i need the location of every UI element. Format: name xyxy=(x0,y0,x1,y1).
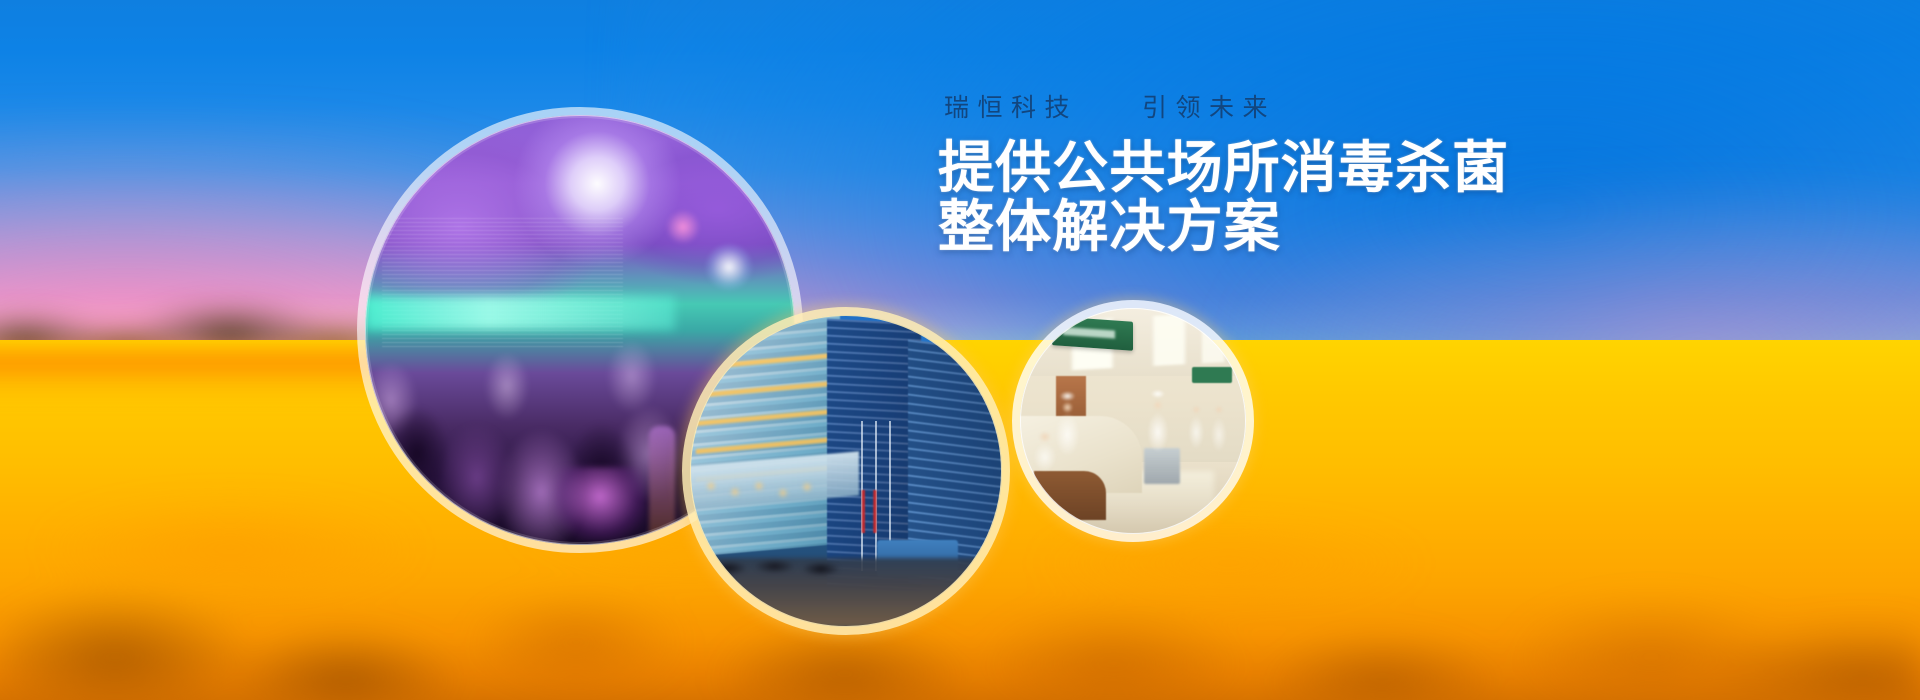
hospital-photo xyxy=(1020,308,1246,534)
brand-eyebrow: 瑞恒科技 引领未来 xyxy=(944,88,1638,124)
canopy-lights xyxy=(696,471,846,521)
photo-circle-office-towers[interactable] xyxy=(690,315,1002,627)
office-towers-photo xyxy=(690,315,1002,627)
wine-bottle xyxy=(649,426,675,536)
red-flags xyxy=(855,490,896,534)
stage-spotlight-icon xyxy=(706,244,752,290)
headline-line-2: 整体解决方案 xyxy=(938,197,1638,256)
promo-banner: 瑞恒科技 引领未来 提供公共场所消毒杀菌 整体解决方案 xyxy=(0,0,1920,700)
parked-cars xyxy=(709,546,902,583)
banner-copy: 瑞恒科技 引领未来 提供公共场所消毒杀菌 整体解决方案 xyxy=(938,88,1638,257)
brand-eyebrow-left: 瑞恒科技 xyxy=(944,88,1078,124)
photo-circle-hospital[interactable] xyxy=(1020,308,1246,534)
ice-bucket xyxy=(554,467,646,541)
stage-spotlight-pink-icon xyxy=(666,210,700,244)
headline-line-1: 提供公共场所消毒杀菌 xyxy=(938,136,1509,199)
medical-staff xyxy=(1020,308,1246,534)
brand-eyebrow-right: 引领未来 xyxy=(1142,88,1276,124)
headline: 提供公共场所消毒杀菌 整体解决方案 xyxy=(938,138,1638,257)
